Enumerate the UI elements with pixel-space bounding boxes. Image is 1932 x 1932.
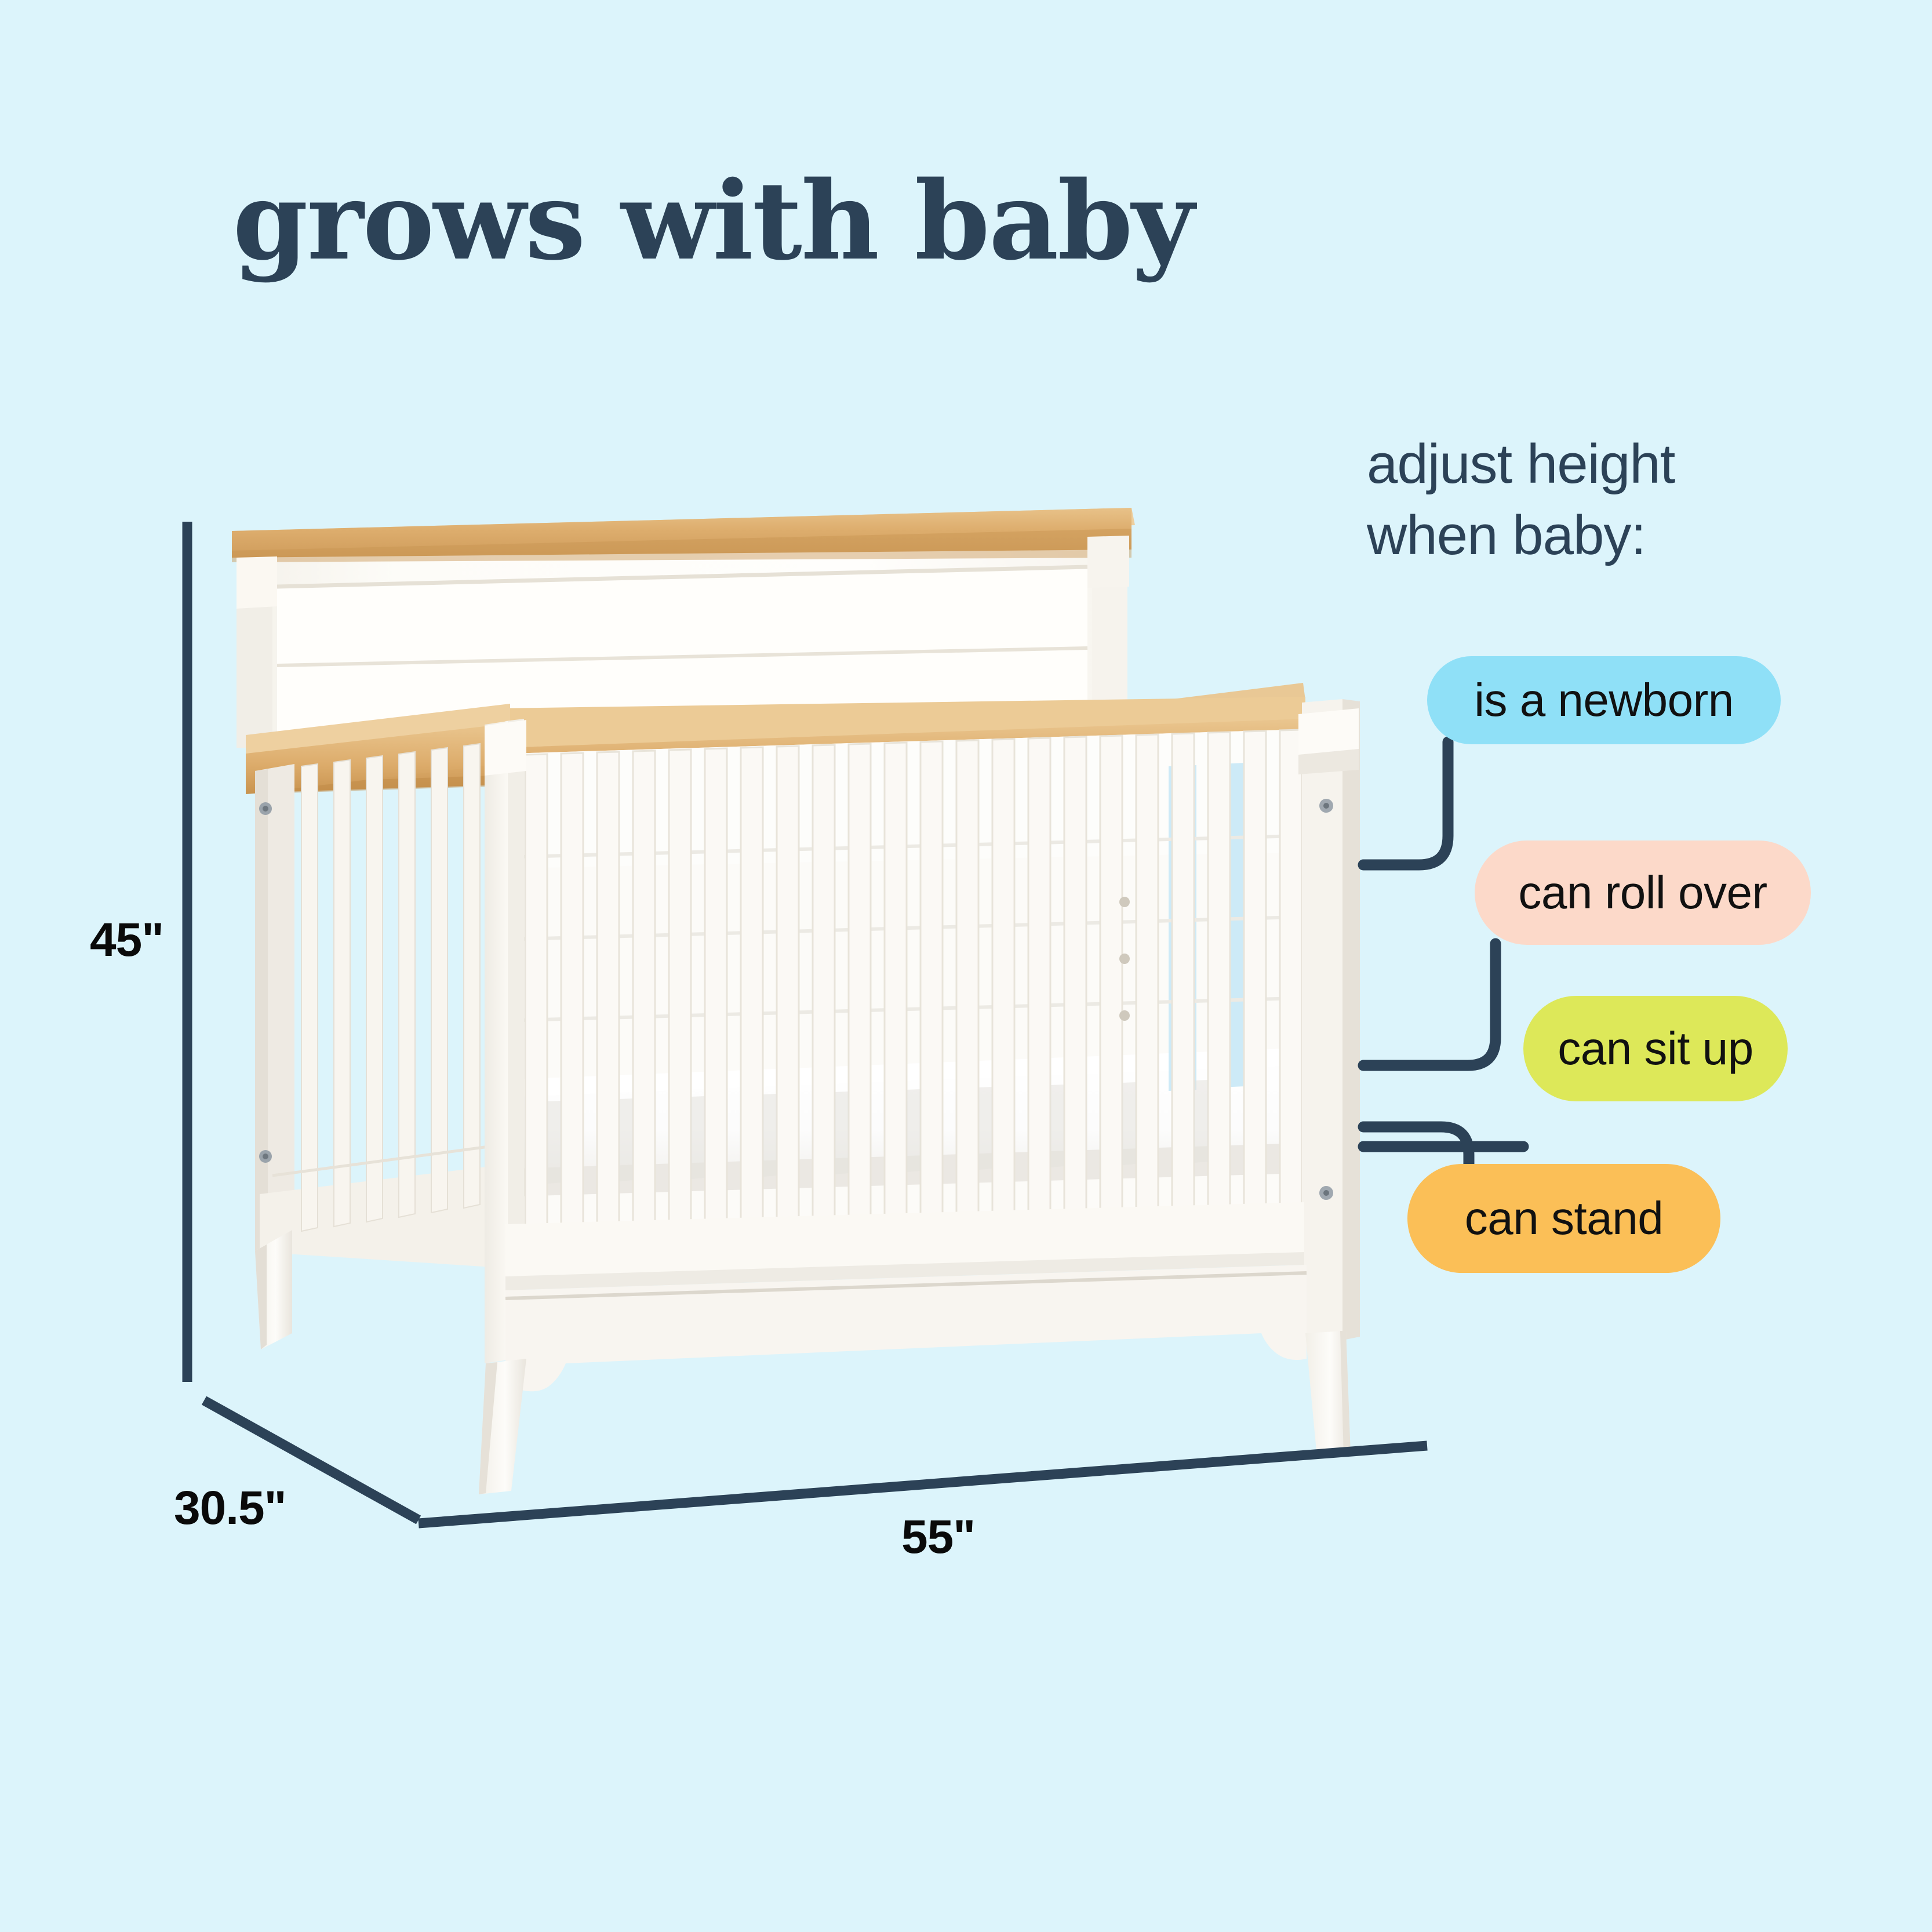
milestone-pill-sit-up[interactable]: can sit up (1523, 996, 1788, 1101)
milestone-label: can stand (1465, 1192, 1663, 1245)
dimension-and-connector-lines (0, 0, 1932, 1932)
connector-roll-over (1363, 944, 1496, 1065)
depth-dimension-label: 30.5" (174, 1481, 286, 1536)
connector-newborn (1363, 742, 1448, 865)
milestone-label: can sit up (1558, 1022, 1753, 1075)
height-dimension-label: 45" (90, 913, 163, 967)
width-dimension-label: 55" (901, 1510, 975, 1564)
milestone-label: can roll over (1518, 866, 1767, 919)
milestone-pill-roll-over[interactable]: can roll over (1475, 841, 1811, 945)
milestone-pill-newborn[interactable]: is a newborn (1427, 656, 1781, 744)
infographic-canvas: grows with baby (0, 0, 1932, 1932)
milestone-pill-stand[interactable]: can stand (1407, 1164, 1720, 1273)
milestone-label: is a newborn (1474, 674, 1734, 727)
